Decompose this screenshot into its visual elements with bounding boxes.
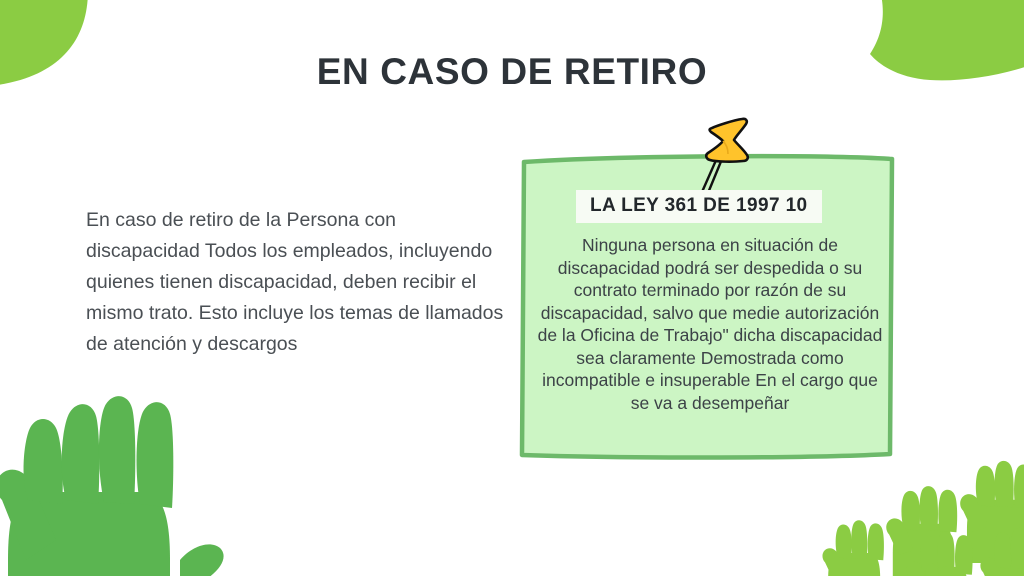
note-label: LA LEY 361 DE 1997 10 [576, 190, 822, 223]
slide-canvas: EN CASO DE RETIRO En caso de retiro de l… [0, 0, 1024, 576]
body-paragraph: En caso de retiro de la Persona con disc… [86, 205, 506, 360]
page-title: EN CASO DE RETIRO [0, 50, 1024, 94]
pushpin-icon [690, 112, 760, 198]
sticky-note: LA LEY 361 DE 1997 10 Ninguna persona en… [512, 112, 912, 472]
green-hands-cluster-bottom-right [822, 461, 1024, 576]
green-hand-bottom-left [0, 396, 224, 576]
note-body-text: Ninguna persona en situación de discapac… [534, 234, 886, 414]
